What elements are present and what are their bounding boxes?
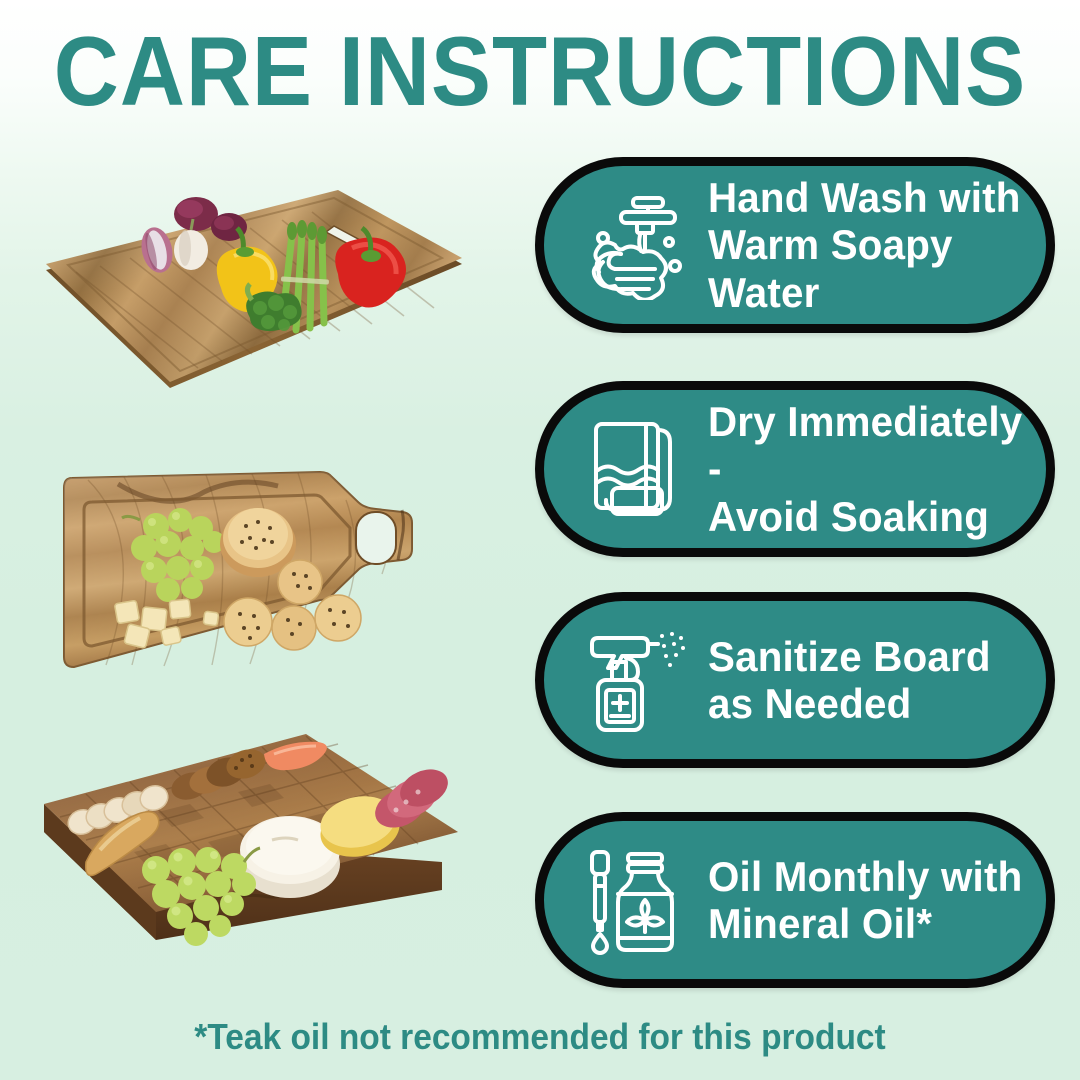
instruction-line-2: Avoid Soaking <box>708 493 1032 540</box>
handwash-faucet-icon <box>578 187 694 303</box>
product-photo-teak-cutting-board-with-vegetables <box>38 178 468 428</box>
instruction-line-2: as Needed <box>708 680 1032 727</box>
infographic-page: CARE INSTRUCTIONS <box>0 0 1080 1080</box>
handle-cutout <box>356 512 396 564</box>
instruction-line-1: Dry Immediately - <box>708 398 1022 492</box>
instruction-text: Hand Wash with Warm Soapy Water <box>708 174 1032 316</box>
footnote-text: *Teak oil not recommended for this produ… <box>38 1016 1042 1058</box>
instruction-card-sanitize-board[interactable]: Sanitize Board as Needed <box>535 592 1055 768</box>
instruction-card-dry-immediately[interactable]: Dry Immediately - Avoid Soaking <box>535 381 1055 557</box>
instruction-line-1: Oil Monthly with <box>708 853 1022 900</box>
instruction-card-oil-monthly[interactable]: Oil Monthly with Mineral Oil* <box>535 812 1055 988</box>
instruction-text: Oil Monthly with Mineral Oil* <box>708 853 1032 948</box>
instruction-line-1: Hand Wash with <box>708 174 1021 221</box>
instruction-text: Sanitize Board as Needed <box>708 633 1032 728</box>
instruction-text: Dry Immediately - Avoid Soaking <box>708 398 1032 540</box>
instruction-line-2: Mineral Oil* <box>708 900 1032 947</box>
towel-dry-icon <box>578 411 694 527</box>
instruction-card-hand-wash[interactable]: Hand Wash with Warm Soapy Water <box>535 157 1055 333</box>
page-title: CARE INSTRUCTIONS <box>43 22 1037 120</box>
instruction-line-2: Warm Soapy Water <box>708 221 1032 316</box>
spray-bottle-sanitize-icon <box>578 622 694 738</box>
dropper-oil-bottle-icon <box>578 842 694 958</box>
product-photo-end-grain-butcher-block-charcuterie <box>38 722 468 972</box>
instruction-line-1: Sanitize Board <box>708 633 991 680</box>
product-photo-teak-board-with-cheese-and-crackers <box>58 462 428 692</box>
